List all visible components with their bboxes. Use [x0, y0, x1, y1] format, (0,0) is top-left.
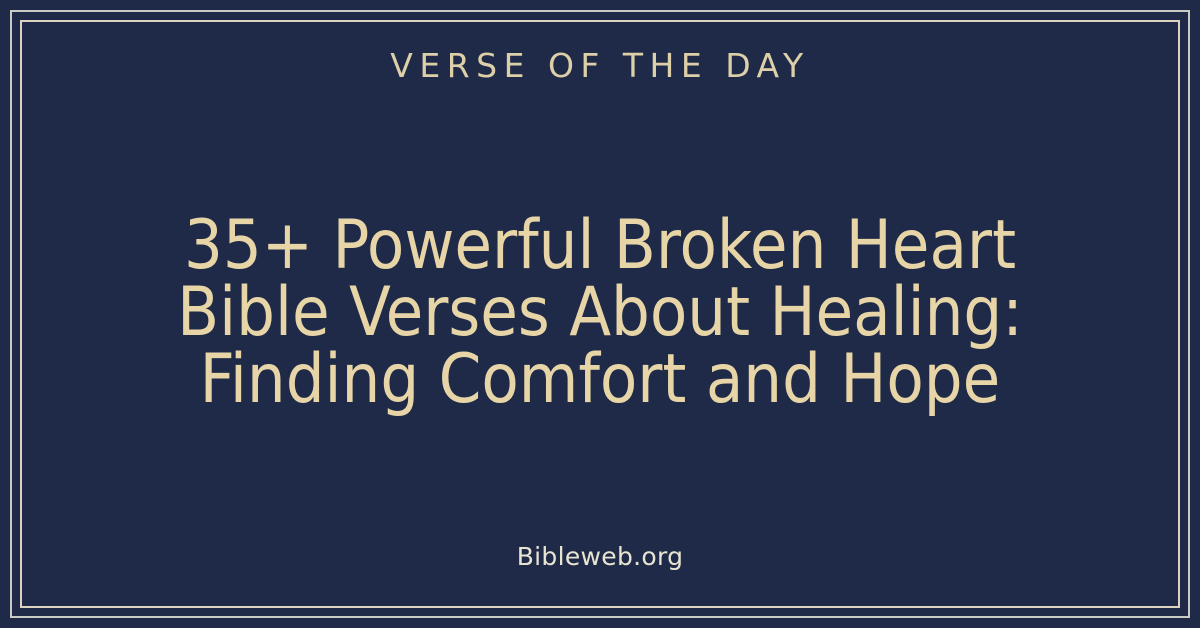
- eyebrow-label: VERSE OF THE DAY: [30, 46, 1170, 86]
- poster-content: VERSE OF THE DAY 35+ Powerful Broken Hea…: [30, 30, 1170, 598]
- page-title-line-3: Finding Comfort and Hope: [30, 346, 1170, 413]
- page-title: 35+ Powerful Broken Heart Bible Verses A…: [30, 212, 1170, 413]
- page-title-line-1: 35+ Powerful Broken Heart: [30, 212, 1170, 279]
- page-title-line-2: Bible Verses About Healing:: [30, 279, 1170, 346]
- verse-of-the-day-poster: VERSE OF THE DAY 35+ Powerful Broken Hea…: [0, 0, 1200, 628]
- site-attribution: Bibleweb.org: [30, 542, 1170, 572]
